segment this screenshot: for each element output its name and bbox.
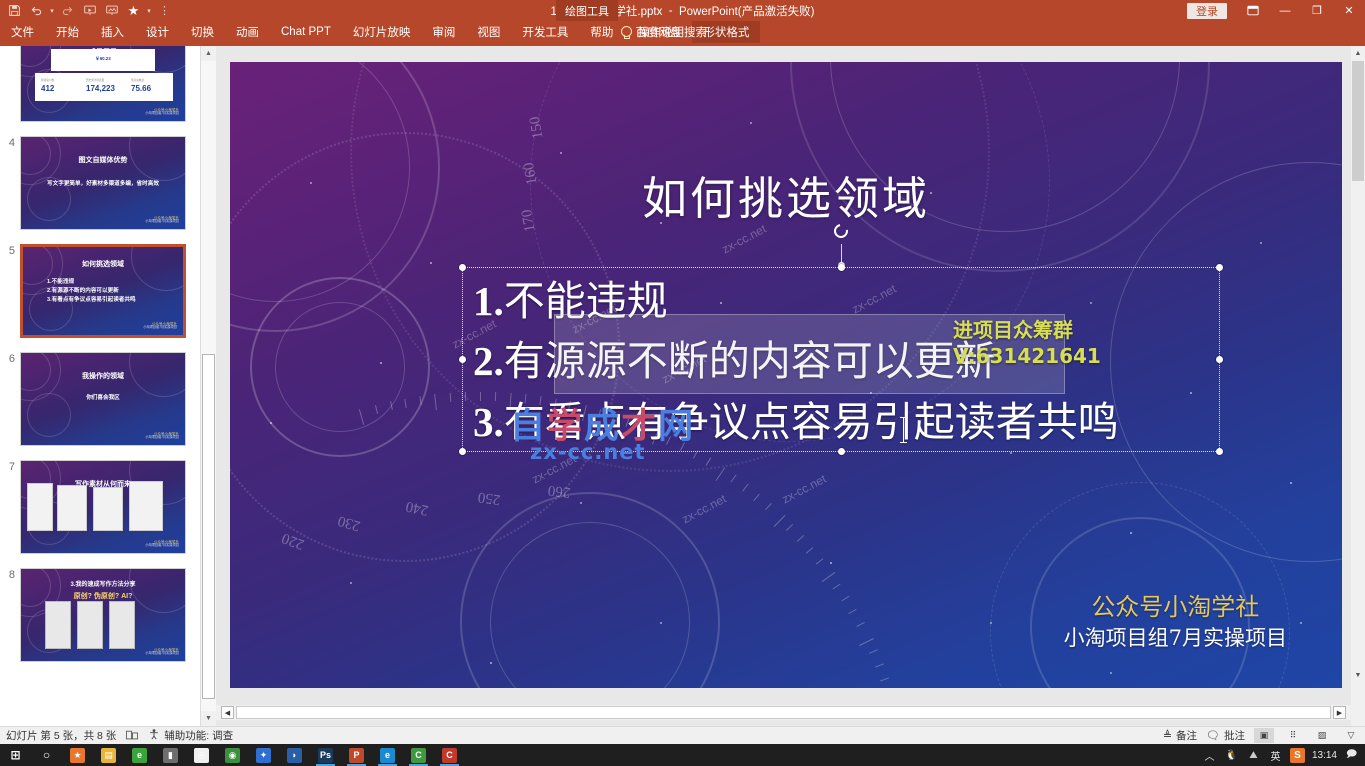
star-dot — [490, 662, 492, 664]
window-controls: 登录 — ❐ ✕ — [1187, 0, 1365, 21]
tick-mark — [856, 622, 864, 627]
thumbnail-image-3 — [109, 601, 135, 649]
thumbnail-number: 8 — [0, 568, 20, 662]
thumbnail-image-1 — [27, 483, 53, 531]
workspace: 3成果展示￥60.23阅读总人数412历史累计阅读量174,223预估总收益75… — [0, 46, 1365, 726]
ribbon-tab-label: 形状格式 — [703, 24, 749, 40]
save-icon[interactable] — [4, 1, 25, 20]
thumbnail-subtitle: 你们喜会我区 — [21, 393, 185, 401]
windows-taskbar: ⊞○★▤e▮◎◉✦◗PsPeCC ︿ 🐧 ⛰ 英 S 13:14 🗩 — [0, 744, 1365, 766]
slide-sorter-button[interactable]: ⠿ — [1283, 728, 1303, 743]
tick-mark — [375, 405, 378, 414]
start-slideshow-icon[interactable] — [79, 1, 100, 20]
promo-line-2: V:631421641 — [953, 343, 1193, 369]
comments-label: 批注 — [1224, 728, 1245, 743]
thumbnail-number: 5 — [0, 244, 20, 338]
tick-mark — [754, 493, 761, 501]
file-explorer-icon-glyph: ▤ — [101, 748, 116, 763]
slide-counter-label[interactable]: 幻灯片 第 5 张，共 8 张 — [6, 728, 116, 743]
vscroll-thumb[interactable] — [1352, 61, 1364, 181]
show-hidden-icons-button[interactable]: ︿ — [1202, 748, 1217, 763]
thumbnail-subtitle: 原创? 伪原创? AI? — [21, 591, 185, 601]
app-orange-icon[interactable]: ★ — [62, 744, 93, 766]
title-bar: ▾ ★ ▾ ⋮ 1公众号小淘学社.pptx - PowerPoint(产品激活失… — [0, 0, 1365, 21]
slide-vertical-scrollbar[interactable]: ▲ ▼ — [1351, 46, 1365, 726]
star-dot — [560, 152, 562, 154]
ribbon-tab-label: 文件 — [11, 24, 34, 40]
edge-browser-icon-glyph: e — [132, 748, 147, 763]
watermark-url-prefix: zx-cc.net — [530, 440, 646, 464]
star-dot — [580, 502, 582, 504]
mail-app-icon-glyph: ✦ — [256, 748, 271, 763]
slide-thumbnail-8[interactable]: 3.我的速成写作方法分享原创? 伪原创? AI?公众号小淘学社小淘项目组7月实操… — [20, 568, 186, 662]
star-dot — [750, 122, 752, 124]
redo-icon[interactable] — [57, 1, 78, 20]
teams-icon-glyph: e — [380, 748, 395, 763]
watermark-tile: zx-cc.net — [680, 492, 729, 527]
chrome-browser-icon-glyph: ◉ — [225, 748, 240, 763]
excel-icon[interactable]: C — [403, 744, 434, 766]
ribbon-tab-4[interactable]: 切换 — [180, 21, 225, 43]
kpi-caption: 历史累计阅读量 — [86, 78, 104, 82]
tick-mark — [390, 401, 393, 410]
dial-number: 150 — [527, 115, 548, 140]
language-icon[interactable] — [126, 730, 138, 741]
tick-mark — [706, 458, 712, 466]
thumbnail-image-1 — [45, 601, 71, 649]
vscroll-up-icon[interactable]: ▲ — [1351, 46, 1365, 60]
thumbnail-kpi-card: 阅读总人数412历史累计阅读量174,223预估总收益75.66 — [35, 73, 173, 101]
vscroll-down-icon[interactable]: ▼ — [1351, 668, 1365, 682]
star-dot — [1010, 452, 1012, 454]
star-dot — [430, 262, 432, 264]
thumbnail-row-3[interactable]: 3成果展示￥60.23阅读总人数412历史累计阅读量174,223预估总收益75… — [0, 46, 200, 122]
star-dot — [990, 622, 992, 624]
title-separator: - — [662, 5, 679, 17]
qat-more-icon[interactable]: ⋮ — [154, 1, 175, 20]
watermark-url-text: zx-cc.net — [530, 440, 646, 464]
taskbar-clock[interactable]: 13:14 — [1312, 750, 1337, 761]
sogou-icon[interactable]: S — [1290, 748, 1305, 763]
star-dot — [1130, 532, 1132, 534]
kpi-caption: 预估总收益 — [131, 78, 144, 82]
ribbon-tab-strip: 文件开始插入设计切换动画Chat PPT幻灯片放映审阅视图开发工具帮助百度网盘形… — [0, 21, 1365, 43]
star-dot — [830, 562, 832, 564]
kpi-value: 412 — [41, 84, 54, 93]
tick-mark — [420, 396, 422, 405]
thumbnail-row-8[interactable]: 83.我的速成写作方法分享原创? 伪原创? AI?公众号小淘学社小淘项目组7月实… — [0, 568, 200, 662]
hscroll-left-icon[interactable]: ◀ — [221, 706, 234, 719]
status-bar: 幻灯片 第 5 张，共 8 张 辅助功能: 调查 ≜ 备注 🗨 批注 ▣ ⠿ — [0, 726, 1365, 744]
wps-icon-glyph: C — [442, 748, 457, 763]
quick-access-toolbar: ▾ ★ ▾ ⋮ — [4, 0, 175, 21]
restore-button[interactable]: ❐ — [1301, 0, 1333, 21]
accessibility-status[interactable]: 辅助功能: 调查 — [148, 728, 233, 743]
dial-number: 250 — [477, 488, 502, 508]
ribbon-tab-3[interactable]: 设计 — [135, 21, 180, 43]
excel-icon-glyph: C — [411, 748, 426, 763]
ribbon-tab-0[interactable]: 文件 — [0, 21, 45, 43]
comments-icon: 🗨 — [1206, 729, 1220, 742]
accessibility-icon — [148, 728, 160, 743]
resize-handle-ne[interactable] — [1216, 264, 1223, 271]
photoshop-icon-glyph: Ps — [318, 748, 333, 763]
powerpoint-icon[interactable]: P — [341, 744, 372, 766]
watermark-char-4: 网 — [658, 407, 695, 447]
thumbnail-footer-sub: 小淘项目组7月实操项目 — [145, 220, 179, 224]
resize-handle-sw[interactable] — [459, 448, 466, 455]
tick-mark — [875, 663, 884, 667]
slide-title-text[interactable]: 如何挑选领域 — [230, 162, 1342, 227]
thumbnail-title: 3.我的速成写作方法分享 — [21, 579, 185, 588]
search-icon[interactable]: ○ — [31, 744, 62, 766]
scroll-up-icon[interactable]: ▲ — [201, 46, 216, 61]
ribbon-tab-1[interactable]: 开始 — [45, 21, 90, 43]
teams-icon[interactable]: e — [372, 744, 403, 766]
slideshow-button[interactable]: ▽ — [1341, 728, 1361, 743]
thumbnail-image-2 — [57, 485, 87, 531]
ribbon-tab-8[interactable]: 审阅 — [421, 21, 466, 43]
star-dot — [270, 422, 272, 424]
tick-mark — [841, 596, 849, 602]
mail-app-icon[interactable]: ✦ — [248, 744, 279, 766]
ribbon-tab-5[interactable]: 动画 — [225, 21, 270, 43]
current-slide[interactable]: 220230240250260150160170 如何挑选领域 zx-cc.ne… — [230, 62, 1342, 688]
kpi-caption: 阅读总人数 — [41, 78, 54, 82]
start-button-glyph: ⊞ — [8, 748, 23, 763]
thumbnail-number: 7 — [0, 460, 20, 554]
dial-number: 260 — [547, 481, 571, 500]
thumbnail-footer-sub: 小淘项目组7月实操项目 — [145, 436, 179, 440]
usb-device-icon-glyph: ▮ — [163, 748, 178, 763]
tell-me-label: 操作说明搜索 — [638, 24, 707, 40]
footer-subtitle-line: 小淘项目组7月实操项目 — [1064, 624, 1287, 652]
tick-mark — [742, 484, 748, 492]
thumbnail-row-7[interactable]: 7写作素材从何而来公众号小淘学社小淘项目组7月实操项目 — [0, 460, 200, 554]
ribbon-tab-6[interactable]: Chat PPT — [270, 21, 342, 43]
ribbon-tab-label: 开始 — [56, 24, 79, 40]
thumbnail-footer: 公众号小淘学社小淘项目组7月实操项目 — [145, 540, 179, 548]
customize-qat-chevron-icon[interactable]: ▾ — [145, 1, 153, 20]
powerpoint-icon-glyph: P — [349, 748, 364, 763]
tick-mark — [405, 399, 408, 408]
star-dot — [380, 362, 382, 364]
thumbnail-footer-sub: 小淘项目组7月实操项目 — [145, 112, 179, 116]
search-icon-glyph: ○ — [39, 748, 54, 763]
slide-thumbnail-5[interactable]: 如何挑选领域1.不能违规2.有源源不断的内容可以更新3.有看点有争议点容易引起读… — [20, 244, 186, 338]
thumbnail-bullet-3: 3.有看点有争议点容易引起读者共鸣 — [47, 295, 136, 303]
slide-footer[interactable]: 公众号小淘学社 小淘项目组7月实操项目 — [1064, 591, 1287, 652]
thumbnail-subtitle: 写文字更简单，好素材多渠道多编，省时高效 — [21, 179, 185, 187]
ime-chinese-icon[interactable]: 英 — [1268, 748, 1283, 763]
notes-label: 备注 — [1176, 728, 1197, 743]
text-cursor-icon — [903, 417, 904, 443]
app-cloud-icon-glyph: ◎ — [194, 748, 209, 763]
tick-mark — [786, 524, 793, 531]
contextual-tab-label: 绘图工具 — [556, 0, 618, 21]
tick-mark — [849, 609, 857, 614]
hscroll-right-icon[interactable]: ▶ — [1333, 706, 1346, 719]
tick-mark — [806, 547, 814, 554]
kpi-value: 75.66 — [131, 84, 151, 93]
star-dot — [1110, 672, 1112, 674]
star-dot — [350, 582, 352, 584]
promo-line-1: 进项目众筹群 — [953, 317, 1193, 343]
dial-number: 240 — [404, 497, 430, 518]
dial-number: 230 — [336, 511, 362, 534]
ribbon-tab-label: 切换 — [191, 24, 214, 40]
ribbon-tab-label: 审阅 — [432, 24, 455, 40]
notification-icon[interactable]: 🗩 — [1344, 748, 1359, 763]
thumbnail-number: 4 — [0, 136, 20, 230]
tick-mark — [880, 677, 889, 681]
thumbnail-title: 图文自媒体优势 — [21, 155, 185, 165]
promo-overlay-text: 进项目众筹群 V:631421641 — [953, 317, 1193, 370]
slide-thumbnail-4[interactable]: 图文自媒体优势写文字更简单，好素材多渠道多编，省时高效公众号小淘学社小淘项目组7… — [20, 136, 186, 230]
thumbnail-image-4 — [129, 481, 163, 531]
resize-handle-w[interactable] — [459, 356, 466, 363]
bullet-number: 1. — [473, 278, 504, 324]
hscroll-track[interactable] — [236, 706, 1331, 719]
thumbnail-footer-sub: 小淘项目组7月实操项目 — [145, 652, 179, 656]
ribbon-display-options-icon[interactable] — [1237, 0, 1269, 21]
ribbon-tab-label: 视图 — [477, 24, 500, 40]
thumbnail-footer-sub: 小淘项目组7月实操项目 — [145, 544, 179, 548]
slide-horizontal-scrollbar[interactable]: ◀ ▶ — [216, 705, 1351, 720]
star-dot — [1290, 482, 1292, 484]
thumbnail-footer: 公众号小淘学社小淘项目组7月实操项目 — [145, 648, 179, 656]
slide-thumbnail-6[interactable]: 我操作的领域你们喜会我区公众号小淘学社小淘项目组7月实操项目 — [20, 352, 186, 446]
tick-mark — [765, 503, 772, 510]
file-explorer-icon[interactable]: ▤ — [93, 744, 124, 766]
ribbon-tab-label: 帮助 — [590, 24, 613, 40]
thumbnail-title: 我操作的领域 — [21, 371, 185, 381]
ribbon-tab-9[interactable]: 视图 — [466, 21, 511, 43]
app-blue-icon-glyph: ◗ — [287, 748, 302, 763]
normal-view-button[interactable]: ▣ — [1254, 728, 1274, 743]
thumbnail-row-4[interactable]: 4图文自媒体优势写文字更简单，好素材多渠道多编，省时高效公众号小淘学社小淘项目组… — [0, 136, 200, 230]
slide-thumbnail-3[interactable]: 成果展示￥60.23阅读总人数412历史累计阅读量174,223预估总收益75.… — [20, 46, 186, 122]
star-dot — [660, 622, 662, 624]
thumbnail-card: ￥60.23 — [51, 49, 155, 71]
thumbnail-pane-scrollbar[interactable]: ▲ ▼ — [200, 46, 215, 726]
thumbnail-card-value: ￥60.23 — [51, 56, 155, 62]
close-button[interactable]: ✕ — [1333, 0, 1365, 21]
scroll-down-icon[interactable]: ▼ — [201, 711, 216, 726]
qq-icon[interactable]: 🐧 — [1224, 748, 1239, 763]
star-dot — [1300, 622, 1302, 624]
tick-mark — [822, 572, 836, 582]
tick-mark — [860, 638, 875, 646]
minimize-button[interactable]: — — [1269, 0, 1301, 21]
thumbnail-title: 如何挑选领域 — [23, 259, 183, 269]
resize-handle-n[interactable] — [838, 264, 845, 271]
tick-mark — [833, 583, 841, 589]
slide-editing-area: 220230240250260150160170 如何挑选领域 zx-cc.ne… — [216, 46, 1351, 726]
ribbon-tab-label: 开发工具 — [522, 24, 568, 40]
thumbnail-footer-sub: 小淘项目组7月实操项目 — [143, 326, 177, 330]
thumbnail-scroll-thumb[interactable] — [202, 354, 215, 699]
accessibility-label: 辅助功能: 调查 — [164, 728, 233, 743]
wps-icon[interactable]: C — [434, 744, 465, 766]
ribbon-tab-label: 设计 — [146, 24, 169, 40]
thumbnail-number: 6 — [0, 352, 20, 446]
tick-mark — [730, 475, 736, 483]
thumbnail-footer: 公众号小淘学社小淘项目组7月实操项目 — [145, 108, 179, 116]
thumbnail-image-3 — [93, 487, 123, 531]
chrome-browser-icon[interactable]: ◉ — [217, 744, 248, 766]
window-title: 1公众号小淘学社.pptx - PowerPoint(产品激活失败) — [0, 0, 1365, 21]
resize-handle-se[interactable] — [1216, 448, 1223, 455]
app-blue-icon[interactable]: ◗ — [279, 744, 310, 766]
undo-dropdown-icon[interactable]: ▾ — [48, 1, 56, 20]
dial-number: 220 — [280, 529, 307, 553]
sign-in-button[interactable]: 登录 — [1187, 3, 1227, 19]
slide-thumbnail-7[interactable]: 写作素材从何而来公众号小淘学社小淘项目组7月实操项目 — [20, 460, 186, 554]
app-cloud-icon[interactable]: ◎ — [186, 744, 217, 766]
notes-icon: ≜ — [1163, 729, 1172, 742]
tick-mark — [796, 535, 803, 542]
watermark-tile: zx-cc.net — [780, 472, 829, 507]
system-tray: ︿ 🐧 ⛰ 英 S 13:14 🗩 — [1202, 748, 1365, 763]
ribbon-tab-label: 动画 — [236, 24, 259, 40]
ribbon-tab-7[interactable]: 幻灯片放映 — [342, 21, 422, 43]
ribbon-tab-label: 幻灯片放映 — [353, 24, 411, 40]
thumbnail-row-5[interactable]: 5如何挑选领域1.不能违规2.有源源不断的内容可以更新3.有看点有争议点容易引起… — [0, 244, 200, 338]
tell-me-search[interactable]: 操作说明搜索 — [612, 21, 707, 43]
tick-mark — [434, 394, 437, 410]
usb-device-icon[interactable]: ▮ — [155, 744, 186, 766]
thumbnail-footer: 公众号小淘学社小淘项目组7月实操项目 — [143, 322, 177, 330]
ribbon-tab-label: 插入 — [101, 24, 124, 40]
tick-mark — [359, 409, 364, 425]
tick-mark — [450, 393, 452, 402]
undo-icon[interactable] — [26, 1, 47, 20]
tick-mark — [716, 467, 726, 481]
photoshop-icon[interactable]: Ps — [310, 744, 341, 766]
resize-handle-e[interactable] — [1216, 356, 1223, 363]
thumbnail-footer: 公众号小淘学社小淘项目组7月实操项目 — [145, 432, 179, 440]
powerpoint-window: ▾ ★ ▾ ⋮ 1公众号小淘学社.pptx - PowerPoint(产品激活失… — [0, 0, 1365, 766]
rotation-stem — [841, 244, 842, 264]
tick-mark — [869, 649, 878, 654]
slide-thumbnail-pane[interactable]: 3成果展示￥60.23阅读总人数412历史累计阅读量174,223预估总收益75… — [0, 46, 200, 726]
star-dot — [1260, 242, 1262, 244]
lightbulb-icon — [620, 26, 631, 39]
tick-mark — [773, 515, 785, 527]
resize-handle-nw[interactable] — [459, 264, 466, 271]
app-name: PowerPoint(产品激活失败) — [679, 3, 814, 19]
bullet-number: 3. — [473, 399, 504, 445]
thumbnail-row-6[interactable]: 6我操作的领域你们喜会我区公众号小淘学社小淘项目组7月实操项目 — [0, 352, 200, 446]
tick-mark — [815, 559, 823, 565]
app-orange-icon-glyph: ★ — [70, 748, 85, 763]
edge-browser-icon[interactable]: e — [124, 744, 155, 766]
ribbon-tab-label: Chat PPT — [281, 26, 331, 38]
taskbar-items: ⊞○★▤e▮◎◉✦◗PsPeCC — [0, 744, 465, 766]
bullet-number: 2. — [473, 338, 504, 384]
kpi-value: 174,223 — [86, 84, 115, 93]
footer-brand-line: 公众号小淘学社 — [1064, 591, 1287, 623]
notes-button[interactable]: ≜ 备注 — [1163, 728, 1197, 743]
start-button[interactable]: ⊞ — [0, 744, 31, 766]
comments-button[interactable]: 🗨 批注 — [1206, 728, 1245, 743]
thumbnail-bullet-2: 2.有源源不断的内容可以更新 — [47, 286, 119, 294]
ribbon-tab-2[interactable]: 插入 — [90, 21, 135, 43]
ribbon-tab-10[interactable]: 开发工具 — [511, 21, 579, 43]
thumbnail-image-2 — [77, 601, 103, 649]
thumbnail-footer: 公众号小淘学社小淘项目组7月实操项目 — [145, 216, 179, 224]
favorite-star-icon[interactable]: ★ — [123, 1, 144, 20]
thumbnail-bullet-1: 1.不能违规 — [47, 277, 74, 285]
antivirus-icon[interactable]: ⛰ — [1246, 748, 1261, 763]
thumbnail-number: 3 — [0, 46, 20, 122]
reading-view-button[interactable]: ▨ — [1312, 728, 1332, 743]
present-current-slide-icon[interactable] — [101, 1, 122, 20]
